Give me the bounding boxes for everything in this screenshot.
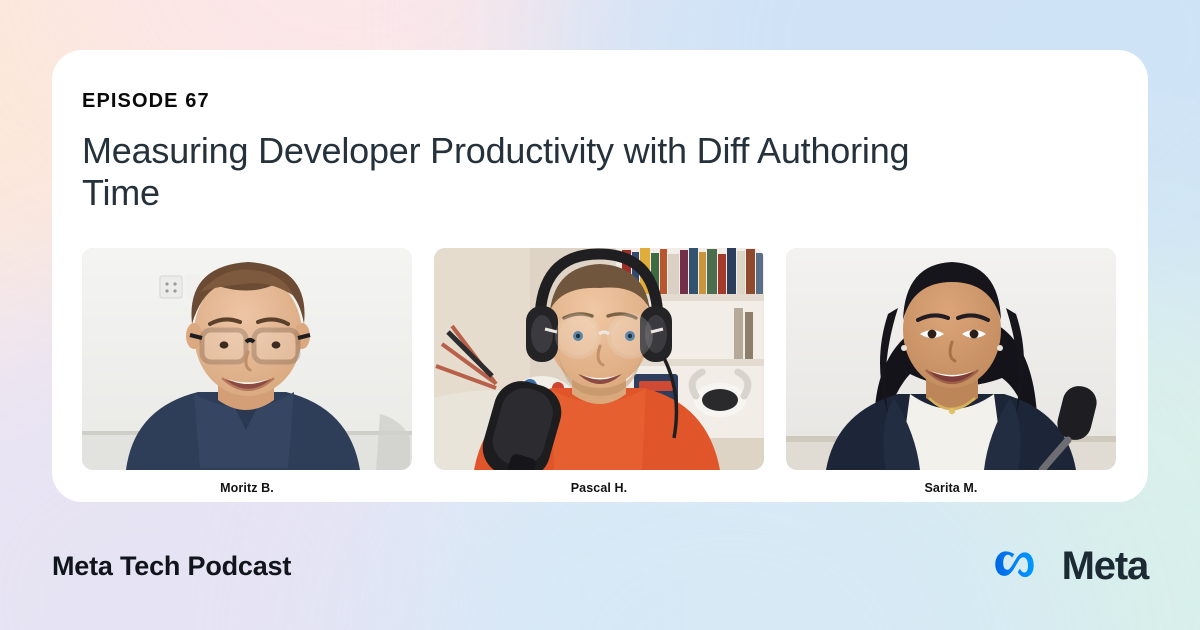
meta-infinity-logo-icon: [991, 546, 1049, 587]
speakers-row: Moritz B.: [82, 248, 1118, 495]
speaker-name-pascal: Pascal H.: [434, 481, 764, 495]
speaker-card-pascal[interactable]: Pascal H.: [434, 248, 764, 495]
episode-title: Measuring Developer Productivity with Di…: [82, 130, 962, 214]
speaker-name-moritz: Moritz B.: [82, 481, 412, 495]
speaker-card-moritz[interactable]: Moritz B.: [82, 248, 412, 495]
meta-brand-lockup: Meta: [991, 544, 1148, 589]
speaker-name-sarita: Sarita M.: [786, 481, 1116, 495]
episode-card: EPISODE 67 Measuring Developer Productiv…: [52, 50, 1148, 502]
speaker-photo-sarita: [786, 248, 1116, 470]
episode-number-label: EPISODE 67: [82, 90, 1148, 113]
podcast-episode-card: EPISODE 67 Measuring Developer Productiv…: [0, 0, 1200, 630]
speaker-photo-pascal: [434, 248, 764, 470]
footer: Meta Tech Podcast Meta: [0, 502, 1200, 630]
speaker-photo-moritz: [82, 248, 412, 470]
meta-wordmark: Meta: [1062, 544, 1148, 589]
speaker-card-sarita[interactable]: Sarita M.: [786, 248, 1116, 495]
podcast-name: Meta Tech Podcast: [52, 551, 291, 582]
